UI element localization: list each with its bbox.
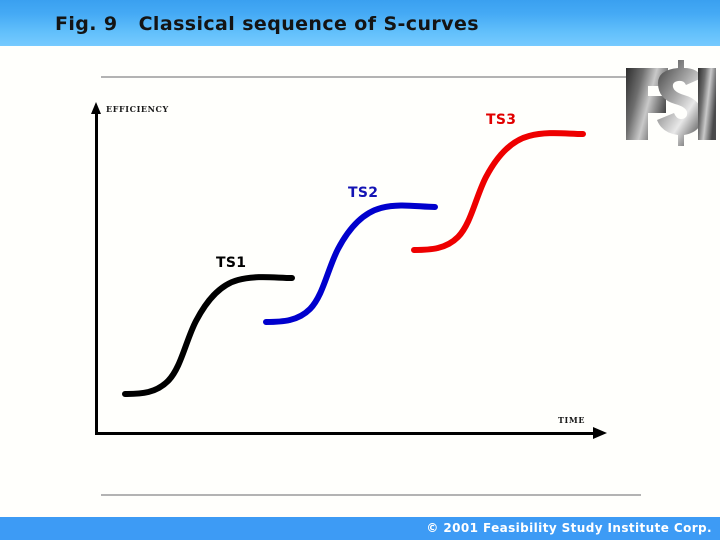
slide-canvas: Fig. 9 Classical sequence of S-curves bbox=[0, 0, 720, 540]
page-title: Fig. 9 Classical sequence of S-curves bbox=[55, 13, 479, 35]
y-axis-arrow-icon bbox=[91, 102, 101, 114]
y-axis-line bbox=[95, 112, 98, 435]
curve-label-ts3: TS3 bbox=[486, 112, 516, 128]
y-axis-label: EFFICIENCY bbox=[106, 104, 169, 114]
x-axis-label: TIME bbox=[558, 415, 585, 425]
slide-body bbox=[0, 46, 720, 517]
logo-letter-i bbox=[698, 68, 716, 140]
bottom-divider-rule bbox=[101, 494, 641, 496]
top-divider-rule bbox=[101, 76, 641, 78]
fsi-logo bbox=[622, 56, 718, 148]
x-axis-arrow-icon bbox=[593, 427, 607, 439]
copyright-notice: © 2001 Feasibility Study Institute Corp. bbox=[426, 521, 712, 535]
x-axis-line bbox=[95, 432, 597, 435]
curve-label-ts2: TS2 bbox=[348, 185, 378, 201]
curve-label-ts1: TS1 bbox=[216, 255, 246, 271]
